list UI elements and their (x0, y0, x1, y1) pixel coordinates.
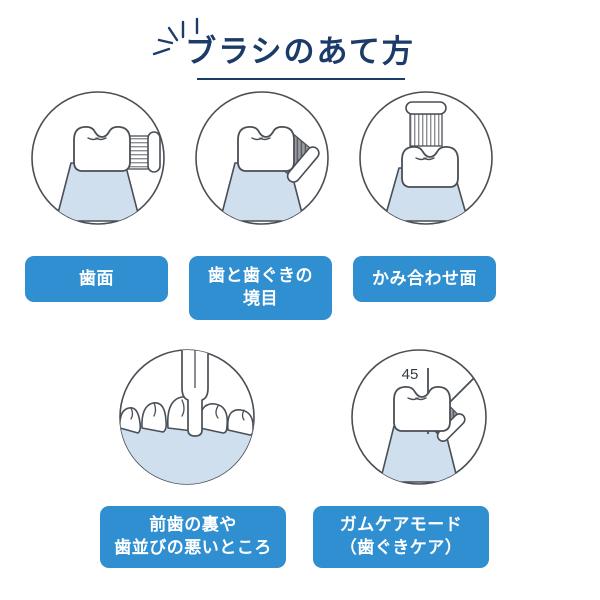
tooth-with-brush-flat-side-icon (30, 90, 166, 226)
label-line: 歯面 (79, 268, 114, 291)
label-gumline[interactable]: 歯と歯ぐきの 境目 (189, 256, 332, 320)
front-teeth-with-narrow-brush-icon (118, 348, 256, 486)
tooth-with-brush-45deg-icon: 45 (350, 348, 488, 486)
page-title: ブラシのあて方 (0, 36, 600, 67)
label-tooth-surface[interactable]: 歯面 (25, 256, 168, 302)
label-line: ガムケアモード (340, 514, 463, 537)
label-line: 前歯の裏や (149, 514, 237, 537)
infographic-page: ブラシのあて方 (0, 0, 600, 600)
label-line: （歯ぐきケア） (340, 537, 463, 560)
angle-annotation-45: 45 (402, 366, 419, 383)
label-gum-care-mode[interactable]: ガムケアモード （歯ぐきケア） (313, 506, 489, 568)
label-line: 歯並びの悪いところ (114, 537, 272, 560)
page-header: ブラシのあて方 (0, 10, 600, 80)
tooth-with-brush-angled-gumline-icon (194, 90, 330, 226)
label-line: かみ合わせ面 (372, 268, 477, 291)
tooth-with-brush-top-icon (358, 90, 494, 226)
label-occlusal[interactable]: かみ合わせ面 (353, 256, 496, 302)
label-line: 歯と歯ぐきの (208, 265, 313, 288)
label-front-teeth-back[interactable]: 前歯の裏や 歯並びの悪いところ (100, 506, 286, 568)
label-line: 境目 (243, 288, 278, 311)
title-underline (197, 78, 405, 80)
